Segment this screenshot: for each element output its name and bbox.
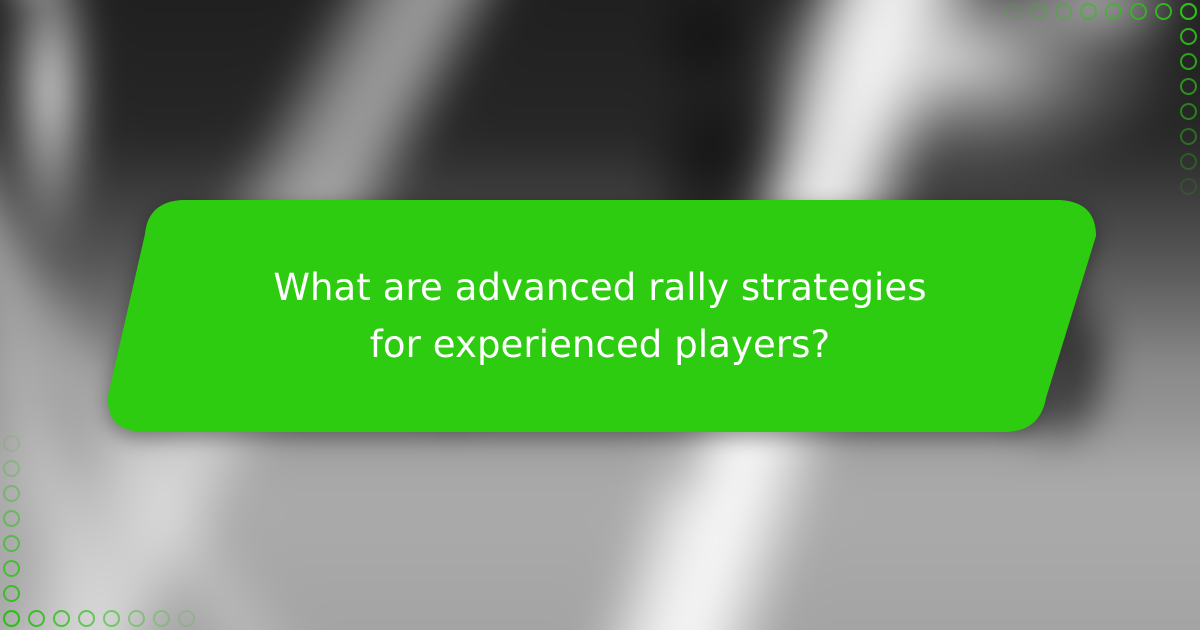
circle-outline-icon xyxy=(103,610,120,627)
circle-outline-icon xyxy=(3,560,20,577)
circle-outline-icon xyxy=(78,610,95,627)
circle-outline-icon xyxy=(1005,3,1022,20)
circle-outline-icon xyxy=(1030,3,1047,20)
circle-outline-icon xyxy=(1130,3,1147,20)
circle-outline-icon xyxy=(3,585,20,602)
circle-outline-icon xyxy=(128,610,145,627)
circle-outline-icon xyxy=(1055,3,1072,20)
circle-outline-icon xyxy=(3,610,20,627)
circle-outline-icon xyxy=(28,610,45,627)
circle-outline-icon xyxy=(1180,28,1197,45)
question-text: What are advanced rally strategies for e… xyxy=(250,259,950,374)
circle-outline-icon xyxy=(1180,153,1197,170)
circle-outline-icon xyxy=(153,610,170,627)
circle-outline-icon xyxy=(1180,53,1197,70)
decorative-dot-column-right xyxy=(1180,3,1197,203)
circle-outline-icon xyxy=(1105,3,1122,20)
circle-outline-icon xyxy=(3,535,20,552)
question-card-graphic: What are advanced rally strategies for e… xyxy=(0,0,1200,630)
circle-outline-icon xyxy=(1180,128,1197,145)
circle-outline-icon xyxy=(3,510,20,527)
decorative-dot-column-left xyxy=(3,427,20,627)
circle-outline-icon xyxy=(1180,103,1197,120)
circle-outline-icon xyxy=(1180,178,1197,195)
question-card: What are advanced rally strategies for e… xyxy=(100,198,1100,434)
circle-outline-icon xyxy=(3,435,20,452)
circle-outline-icon xyxy=(178,610,195,627)
circle-outline-icon xyxy=(1080,3,1097,20)
circle-outline-icon xyxy=(3,485,20,502)
circle-outline-icon xyxy=(53,610,70,627)
circle-outline-icon xyxy=(3,460,20,477)
card-text-area: What are advanced rally strategies for e… xyxy=(100,198,1100,434)
circle-outline-icon xyxy=(1180,78,1197,95)
decorative-dot-row-top-right xyxy=(997,3,1197,20)
decorative-dot-row-bottom-left xyxy=(3,610,203,627)
circle-outline-icon xyxy=(1180,3,1197,20)
circle-outline-icon xyxy=(1155,3,1172,20)
